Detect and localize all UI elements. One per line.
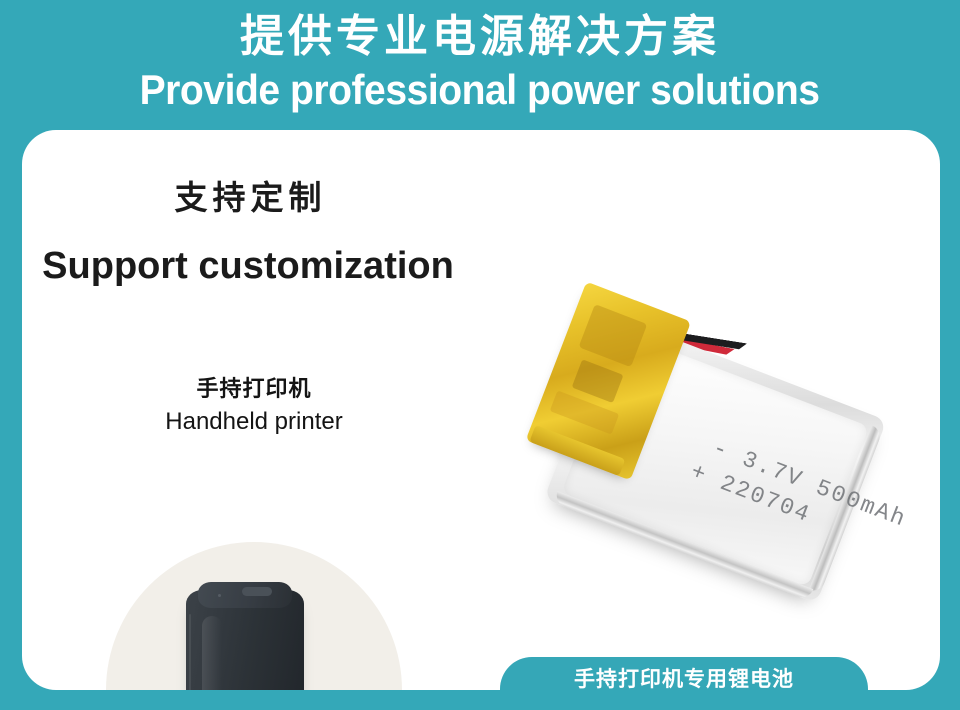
header-title-cn: 提供专业电源解决方案 <box>240 12 720 62</box>
content-card: 支持定制 Support customization 手持打印机 Handhel… <box>22 130 940 690</box>
headline-en: Support customization <box>22 244 474 288</box>
poster-root: 提供专业电源解决方案 Provide professional power so… <box>0 0 960 710</box>
handheld-printer-image <box>186 580 304 690</box>
printer-label-en: Handheld printer <box>84 407 424 437</box>
headline-cn: 支持定制 <box>22 178 474 218</box>
badge-text-cn: 手持打印机专用锂电池 <box>574 667 794 690</box>
printer-highlight <box>202 616 222 690</box>
printer-label-cn: 手持打印机 <box>84 375 424 405</box>
product-badge: 手持打印机专用锂电池 Special lithium battery for h… <box>500 657 868 690</box>
printer-power-button <box>242 587 272 596</box>
battery-pcb-block-2 <box>572 359 624 403</box>
battery-rotation-wrapper: - 3.7V 500mAh + 220704 <box>503 282 894 617</box>
lithium-battery-image: - 3.7V 500mAh + 220704 <box>482 315 932 615</box>
header-banner: 提供专业电源解决方案 Provide professional power so… <box>0 0 960 128</box>
headline-block: 支持定制 Support customization <box>22 178 474 288</box>
printer-seam <box>189 614 191 690</box>
header-title-en: Provide professional power solutions <box>140 66 820 114</box>
printer-label: 手持打印机 Handheld printer <box>84 375 424 437</box>
battery-pcb-block-1 <box>579 304 648 367</box>
printer-top-panel <box>198 582 292 608</box>
printer-indicator-led <box>218 594 221 597</box>
